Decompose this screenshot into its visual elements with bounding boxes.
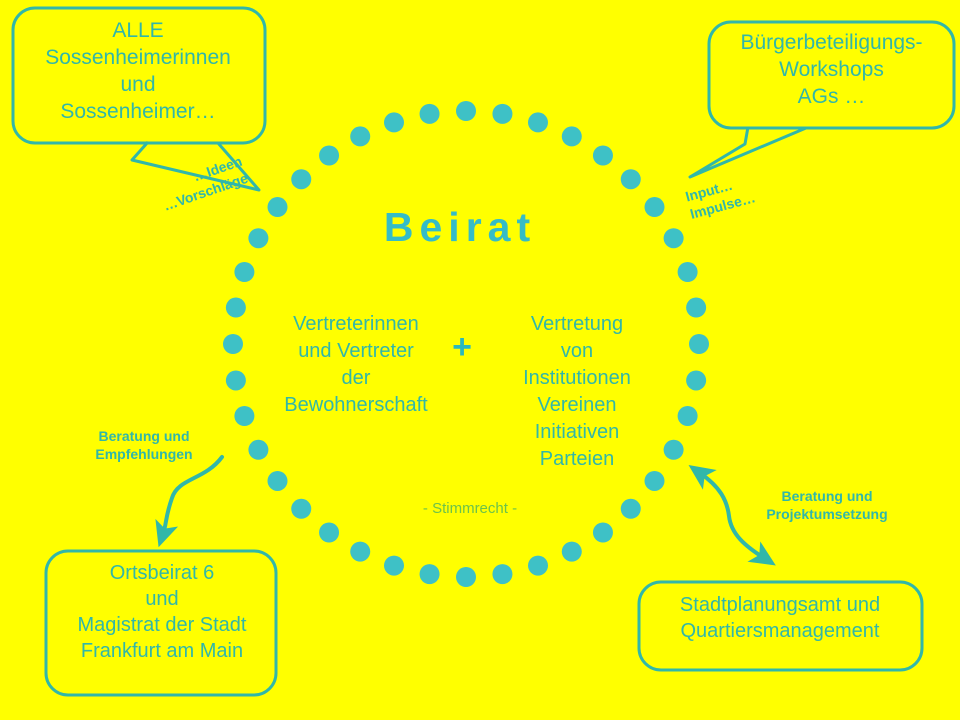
box-bottom-left-label: Ortsbeirat 6 und Magistrat der Stadt Fra…: [48, 560, 276, 664]
ring-dot: [562, 126, 582, 146]
center-column-right: Vertretung von Institutionen Vereinen In…: [494, 311, 660, 473]
diagram-canvas: ALLE Sossenheimerinnen und Sossenheimer……: [0, 0, 960, 720]
ring-dot: [686, 298, 706, 318]
ring-dot: [456, 101, 476, 121]
ring-dot: [621, 169, 641, 189]
ring-dot: [234, 262, 254, 282]
center-column-left: Vertreterinnen und Vertreter der Bewohne…: [272, 311, 440, 419]
ring-dot: [319, 146, 339, 166]
annotation-ideen-vorschlaege: …Ideen …Vorschläge: [116, 152, 251, 229]
ring-dot: [248, 228, 268, 248]
ring-dot: [456, 567, 476, 587]
ring-dot: [223, 334, 243, 354]
ring-dot: [664, 440, 684, 460]
annotation-beratung-empfehlungen: Beratung und Empfehlungen: [74, 427, 214, 463]
ring-dot: [664, 228, 684, 248]
ring-dot: [248, 440, 268, 460]
stimmrecht-note: - Stimmrecht -: [380, 500, 560, 518]
ring-dot: [226, 370, 246, 390]
ring-dot: [226, 298, 246, 318]
ring-dot: [291, 499, 311, 519]
ring-dot: [621, 499, 641, 519]
ring-dot: [593, 523, 613, 543]
ring-dot: [319, 523, 339, 543]
ring-dot: [291, 169, 311, 189]
ring-dot: [268, 197, 288, 217]
annotation-beratung-projektumsetzung: Beratung und Projektumsetzung: [742, 487, 912, 523]
arrow-beratung-empfehlungen: [163, 457, 222, 534]
ring-dot: [645, 471, 665, 491]
ring-dot: [686, 370, 706, 390]
ring-dot: [528, 556, 548, 576]
page-title: Beirat: [310, 202, 610, 252]
ring-dot: [492, 564, 512, 584]
ring-dot: [678, 262, 698, 282]
ring-dot: [593, 146, 613, 166]
ring-dot: [492, 104, 512, 124]
ring-dot: [528, 112, 548, 132]
ring-dot: [384, 112, 404, 132]
ring-dot: [350, 126, 370, 146]
bubble-top-left-label: ALLE Sossenheimerinnen und Sossenheimer…: [18, 18, 258, 126]
ring-dot: [384, 556, 404, 576]
ring-dot: [645, 197, 665, 217]
ring-dot: [678, 406, 698, 426]
ring-dot: [234, 406, 254, 426]
ring-dot: [562, 542, 582, 562]
ring-dot: [420, 564, 440, 584]
ring-dot: [420, 104, 440, 124]
annotation-input-impulse: Input… Impulse…: [683, 157, 808, 223]
ring-dot: [268, 471, 288, 491]
ring-dot: [350, 542, 370, 562]
ring-dot: [689, 334, 709, 354]
plus-icon: +: [442, 327, 482, 368]
box-bottom-right-label: Stadtplanungsamt und Quartiersmanagement: [646, 592, 914, 644]
bubble-top-right-label: Bürgerbeteiligungs- Workshops AGs …: [714, 30, 949, 111]
